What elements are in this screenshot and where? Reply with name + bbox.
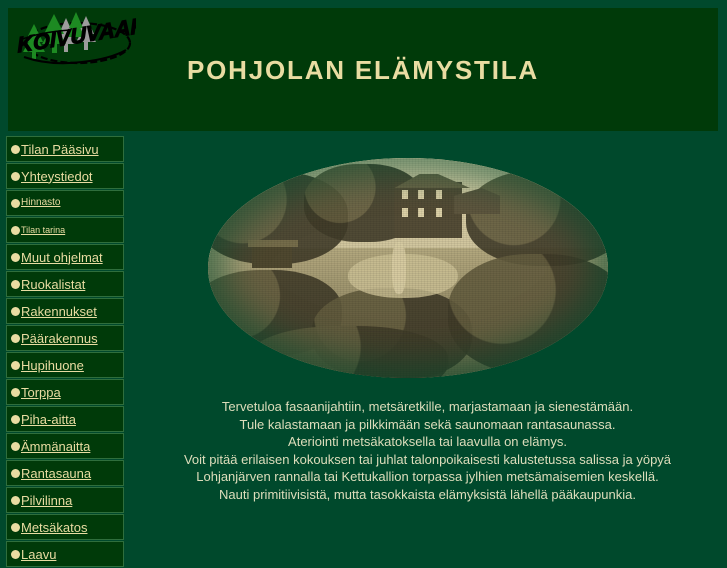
bullet-icon [11,523,20,532]
bullet-icon [11,550,20,559]
sidebar-item-label: Torppa [21,386,61,399]
sidebar-item-rantasauna[interactable]: Rantasauna [6,460,124,486]
sidebar-item-ammanaitta[interactable]: Ämmänaitta [6,433,124,459]
sidebar-item-rakennukset[interactable]: Rakennukset [6,298,124,324]
sidebar-item-label: Muut ohjelmat [21,251,103,264]
bullet-icon [11,442,20,451]
sidebar-item-label: Ruokalistat [21,278,85,291]
sidebar-menu: Tilan Pääsivu Yhteystiedot Hinnasto Tila… [6,136,124,568]
sidebar-item-paarakennus[interactable]: Päärakennus [6,325,124,351]
intro-paragraph: Tervetuloa fasaanijahtiin, metsäretkille… [130,398,725,503]
sidebar-item-label: Hinnasto [21,198,60,208]
bullet-icon [11,388,20,397]
intro-line: Ateriointi metsäkatoksella tai laavulla … [130,433,725,451]
sidebar-item-label: Päärakennus [21,332,98,345]
bullet-icon [11,334,20,343]
intro-line: Voit pitää erilaisen kokouksen tai juhla… [130,451,725,469]
intro-line: Tule kalastamaan ja pilkkimään sekä saun… [130,416,725,434]
intro-line: Tervetuloa fasaanijahtiin, metsäretkille… [130,398,725,416]
main-content: Tervetuloa fasaanijahtiin, metsäretkille… [130,136,725,545]
bullet-icon [11,280,20,289]
intro-line: Nauti primitiivisistä, mutta tasokkaista… [130,486,725,504]
bullet-icon [11,199,20,208]
bullet-icon [11,415,20,424]
bullet-icon [11,172,20,181]
sidebar-item-label: Metsäkatos [21,521,87,534]
sidebar-item-label: Yhteystiedot [21,170,93,183]
bullet-icon [11,469,20,478]
sidebar-item-label: Piha-aitta [21,413,76,426]
page-title: POHJOLAN ELÄMYSTILA [8,55,718,86]
sidebar-item-label: Tilan tarina [21,226,65,235]
sidebar-item-muut-ohjelmat[interactable]: Muut ohjelmat [6,244,124,270]
bullet-icon [11,496,20,505]
sidebar-item-torppa[interactable]: Torppa [6,379,124,405]
sidebar-item-label: Pilvilinna [21,494,72,507]
photo-vignette-overlay [208,158,608,378]
sidebar-item-hinnasto[interactable]: Hinnasto [6,190,124,216]
bullet-icon [11,145,20,154]
sidebar-item-label: Hupihuone [21,359,84,372]
sidebar-item-label: Rakennukset [21,305,97,318]
sidebar-item-label: Rantasauna [21,467,91,480]
bullet-icon [11,253,20,262]
oval-photo-frame [208,158,608,378]
site-header: KOIVUVAARA POHJOLAN ELÄMYSTILA [8,8,718,131]
sidebar-item-pilvilinna[interactable]: Pilvilinna [6,487,124,513]
bullet-icon [11,361,20,370]
intro-line: Lohjanjärven rannalla tai Kettukallion t… [130,468,725,486]
sidebar-item-hupihuone[interactable]: Hupihuone [6,352,124,378]
sidebar-item-yhteystiedot[interactable]: Yhteystiedot [6,163,124,189]
bullet-icon [11,307,20,316]
sidebar-item-tilan-tarina[interactable]: Tilan tarina [6,217,124,243]
sidebar-item-label: Laavu [21,548,56,561]
hero-photo [208,158,608,378]
sidebar-item-label: Tilan Pääsivu [21,143,99,156]
sidebar-item-piha-aitta[interactable]: Piha-aitta [6,406,124,432]
sidebar-item-label: Ämmänaitta [21,440,90,453]
sidebar-item-metsakatos[interactable]: Metsäkatos [6,514,124,540]
bullet-icon [11,226,20,235]
sidebar-item-tilan-paasivu[interactable]: Tilan Pääsivu [6,136,124,162]
sidebar-item-ruokalistat[interactable]: Ruokalistat [6,271,124,297]
